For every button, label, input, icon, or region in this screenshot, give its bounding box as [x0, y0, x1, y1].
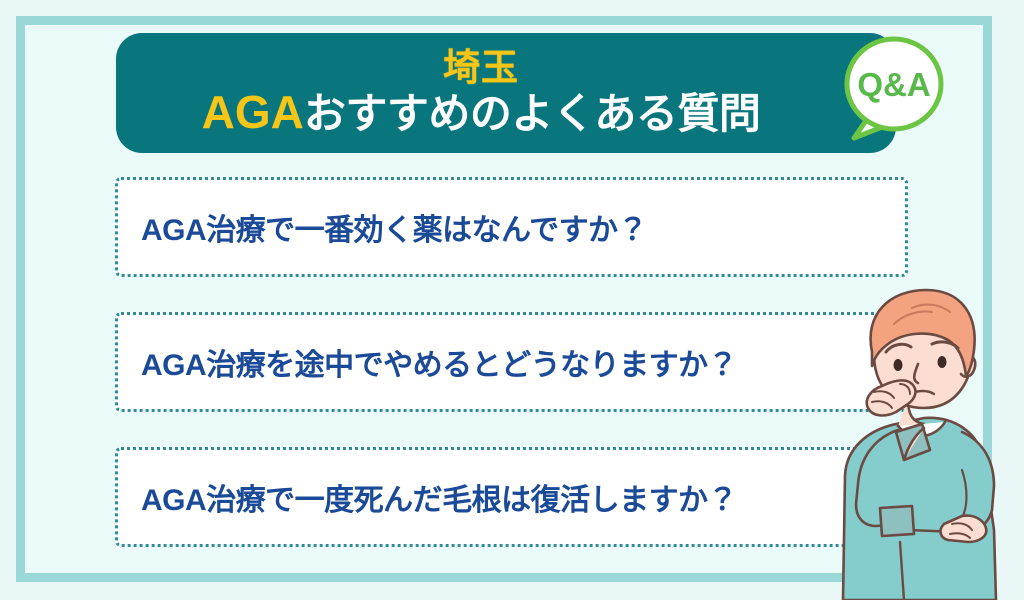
page-title-rest: おすすめのよくある質問 [304, 90, 761, 137]
prefecture-label: 埼玉 [443, 49, 519, 86]
faq-question-text: AGA治療で一番効く薬はなんですか？ [118, 205, 647, 249]
faq-item-2[interactable]: AGA治療を途中でやめるとどうなりますか？ [115, 312, 908, 412]
faq-question-text: AGA治療を途中でやめるとどうなりますか？ [118, 340, 737, 384]
page-title: AGAおすすめのよくある質問 [202, 88, 761, 136]
qa-badge-label: Q&A [857, 66, 930, 103]
qa-badge: Q&A [838, 34, 950, 146]
header-banner-text: 埼玉 AGAおすすめのよくある質問 [116, 33, 836, 153]
faq-question-text: AGA治療で一度死んだ毛根は復活しますか？ [118, 475, 737, 519]
speech-bubble-icon: Q&A [838, 34, 950, 146]
page-title-highlight: AGA [202, 86, 304, 138]
faq-banner-canvas: 埼玉 AGAおすすめのよくある質問 Q&A AGA治療で一番効く薬はなんですか？… [0, 0, 1024, 600]
header-banner: 埼玉 AGAおすすめのよくある質問 [116, 33, 896, 153]
faq-item-1[interactable]: AGA治療で一番効く薬はなんですか？ [115, 177, 908, 277]
faq-item-3[interactable]: AGA治療で一度死んだ毛根は復活しますか？ [115, 447, 908, 547]
